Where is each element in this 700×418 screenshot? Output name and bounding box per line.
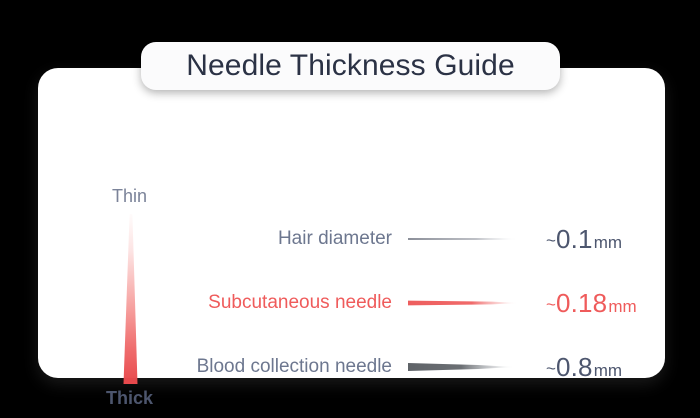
needle-illustration-blood-collection: [406, 352, 526, 382]
row-label-subcutaneous-needle: Subcutaneous needle: [158, 292, 406, 314]
list-item: Hair diameter: [158, 216, 678, 262]
value-unit: mm: [594, 361, 622, 381]
needle-guide-card: Thin Thick: [38, 68, 665, 378]
infographic-stage: Thin Thick: [0, 0, 700, 418]
needle-taper-thin-icon: [406, 232, 524, 246]
needle-taper-medium-icon: [406, 295, 524, 311]
value-number: 0.8: [556, 352, 593, 383]
value-number: 0.18: [556, 288, 607, 319]
value-approx-symbol: ~: [546, 231, 556, 251]
gauge-bar: [116, 214, 146, 384]
title-badge: Needle Thickness Guide: [141, 42, 560, 90]
row-value-hair-diameter: ~ 0.1 mm: [526, 224, 622, 255]
value-number: 0.1: [556, 224, 593, 255]
row-label-hair-diameter: Hair diameter: [158, 228, 406, 250]
page-title: Needle Thickness Guide: [186, 49, 515, 83]
row-label-blood-collection-needle: Blood collection needle: [158, 356, 406, 378]
value-unit: mm: [594, 233, 622, 253]
row-value-subcutaneous-needle: ~ 0.18 mm: [526, 288, 637, 319]
gauge-thick-label: Thick: [106, 388, 153, 409]
list-item: Subcutaneous needle: [158, 280, 678, 326]
needle-illustration-subcutaneous: [406, 288, 526, 318]
needle-comparison-list: Hair diameter: [158, 208, 678, 398]
list-item: Blood collection needle: [158, 344, 678, 390]
needle-illustration-hair: [406, 224, 526, 254]
thickness-gauge-wedge-icon: [116, 214, 146, 384]
value-approx-symbol: ~: [546, 295, 556, 315]
value-approx-symbol: ~: [546, 359, 556, 379]
row-value-blood-collection-needle: ~ 0.8 mm: [526, 352, 622, 383]
needle-taper-thick-icon: [406, 356, 524, 378]
value-unit: mm: [608, 297, 636, 317]
gauge-thin-label: Thin: [112, 186, 147, 207]
